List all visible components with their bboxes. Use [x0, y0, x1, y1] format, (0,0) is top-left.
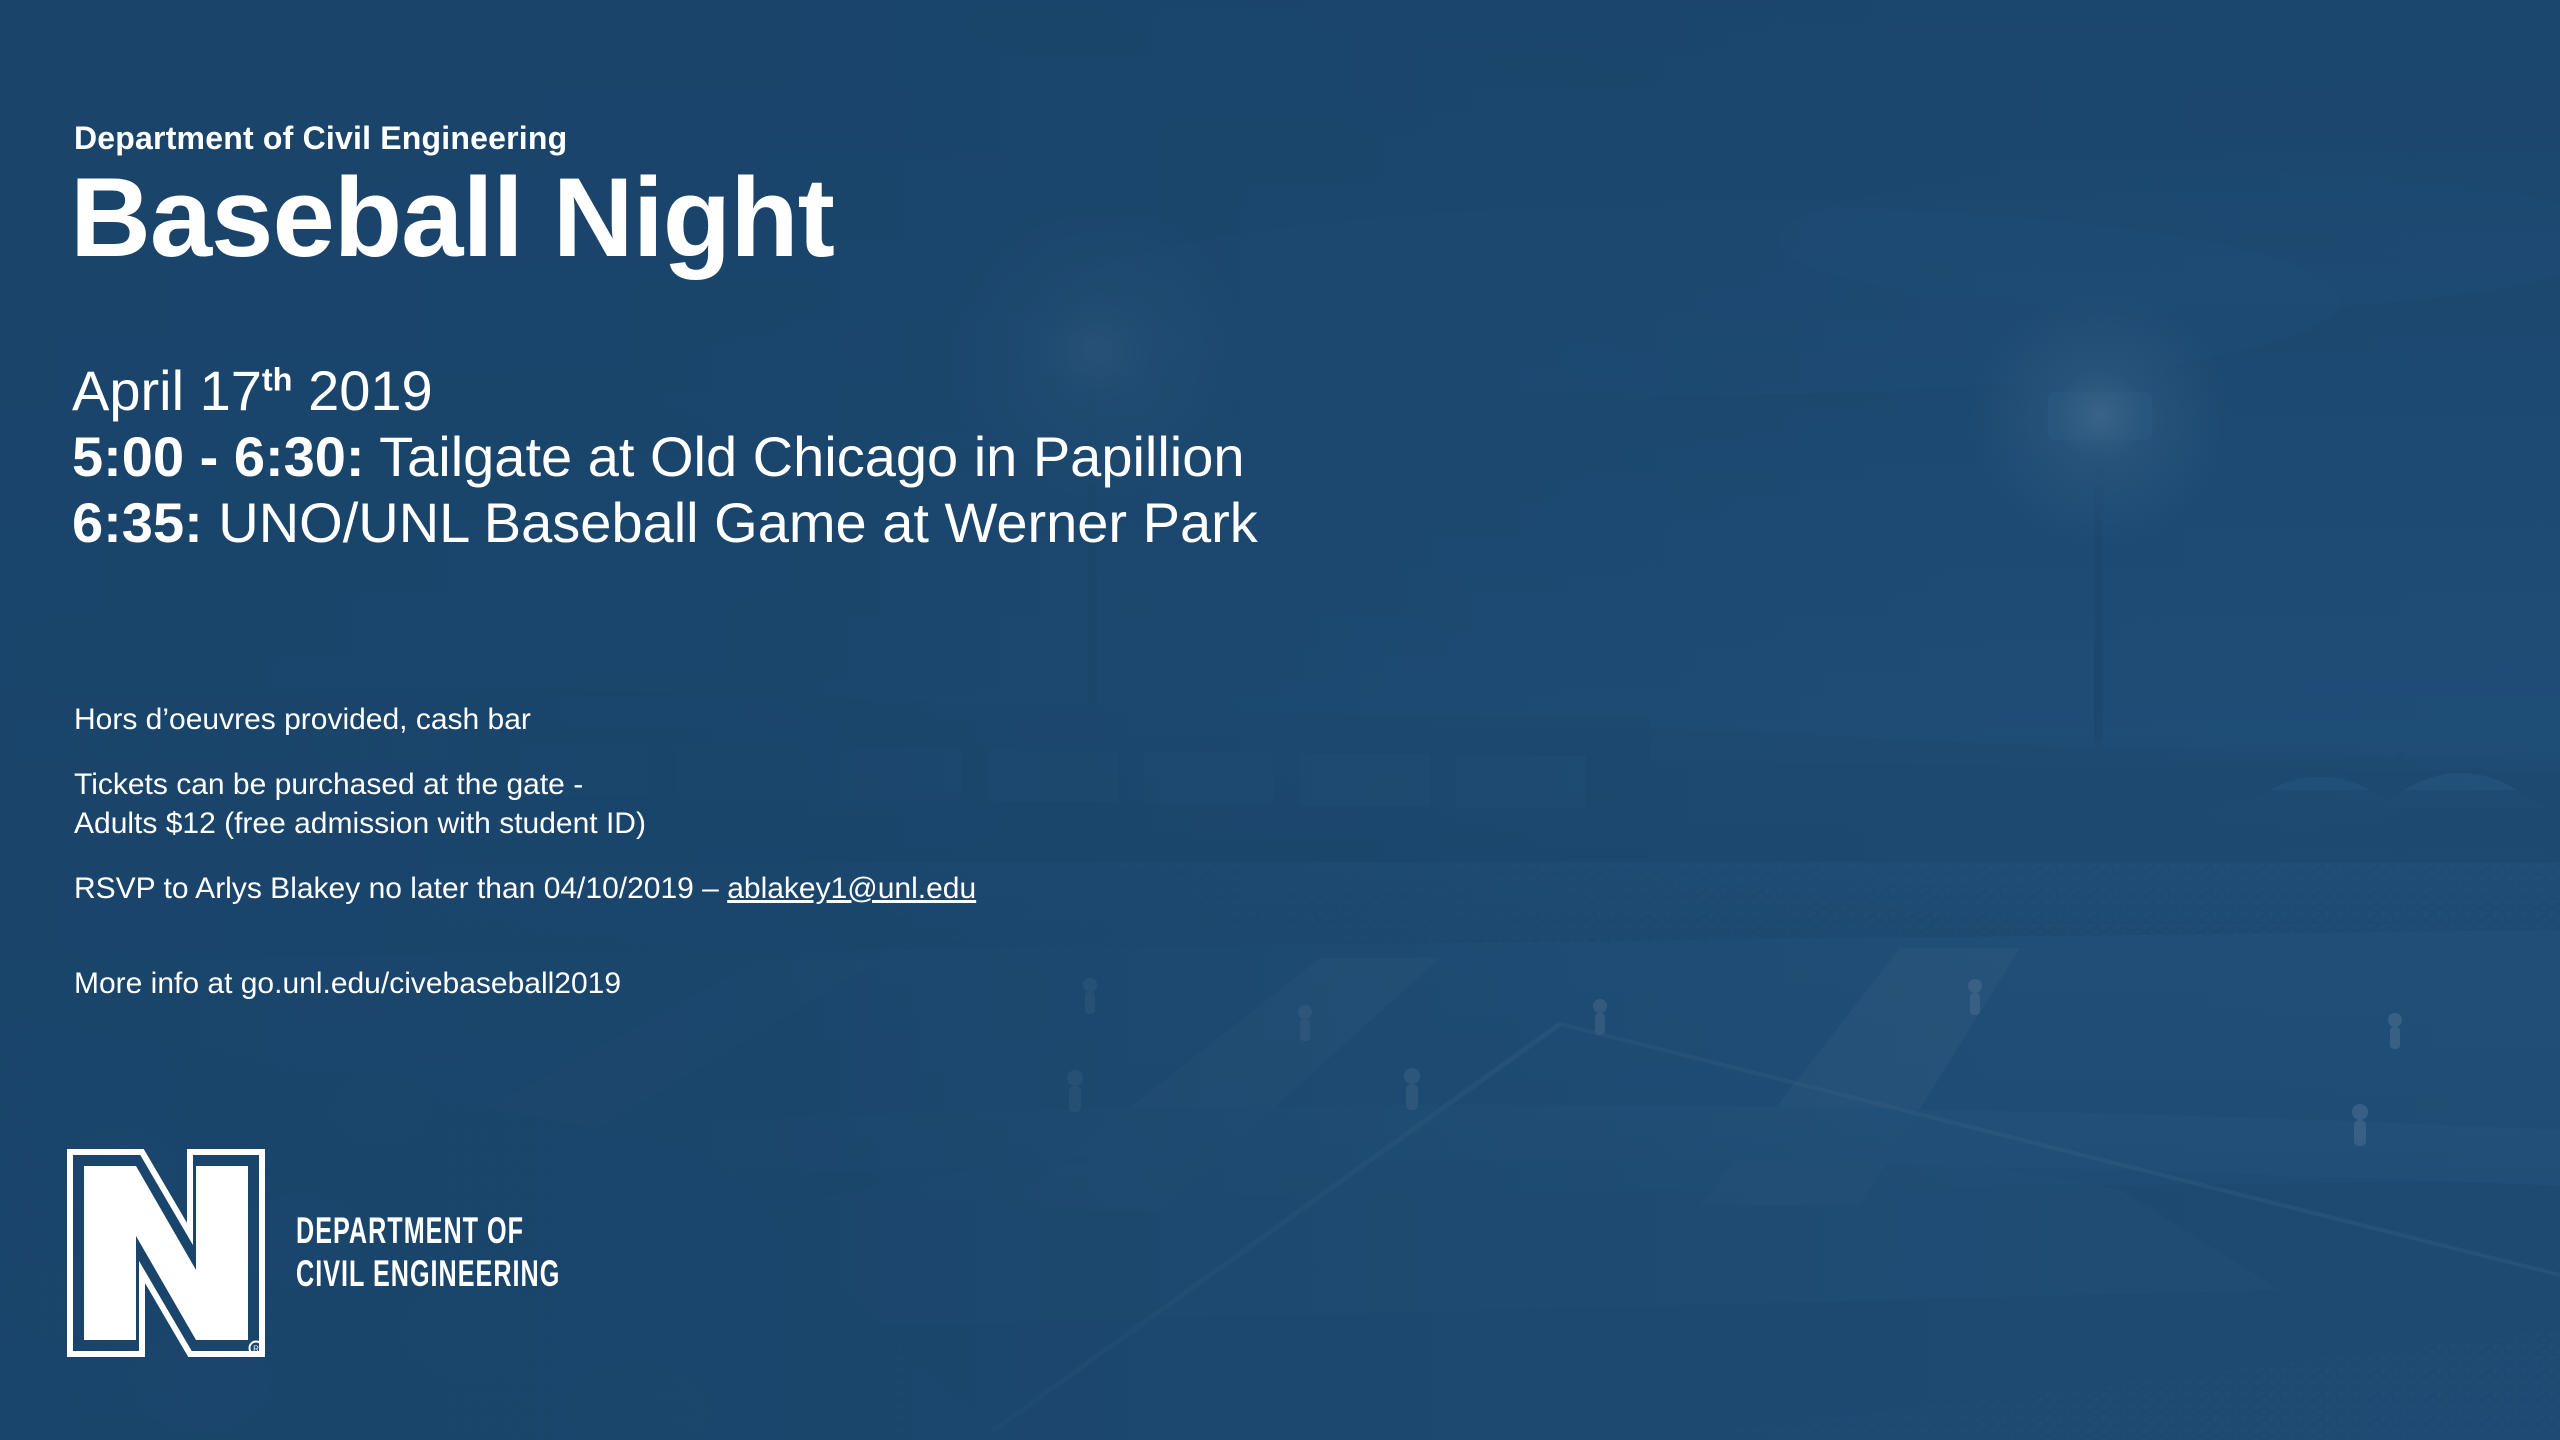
schedule-item-tailgate: 5:00 - 6:30: Tailgate at Old Chicago in … — [72, 424, 1258, 490]
schedule-block: April 17th 2019 5:00 - 6:30: Tailgate at… — [72, 358, 1258, 556]
rsvp-text: RSVP to Arlys Blakey no later than 04/10… — [74, 872, 727, 905]
details-block: Hors d’oeuvres provided, cash bar Ticket… — [74, 700, 976, 1003]
poster-content: Department of Civil Engineering Baseball… — [0, 0, 2560, 1440]
schedule-item-game: 6:35: UNO/UNL Baseball Game at Werner Pa… — [72, 490, 1258, 556]
schedule-time-game: 6:35: — [72, 491, 203, 554]
event-date-monthday: April 17 — [72, 359, 262, 422]
rsvp-email-link[interactable]: ablakey1@unl.edu — [727, 872, 976, 905]
logo-wordmark: DEPARTMENT OF CIVIL ENGINEERING — [296, 1210, 560, 1296]
logo-line-1: DEPARTMENT OF — [296, 1210, 560, 1253]
event-date-ordinal: th — [262, 361, 293, 397]
details-spacer — [74, 934, 976, 964]
logo-line-2: CIVIL ENGINEERING — [296, 1253, 560, 1296]
svg-text:R: R — [253, 1345, 259, 1354]
page-title: Baseball Night — [70, 162, 834, 274]
nebraska-n-icon: R — [66, 1148, 266, 1358]
detail-tickets: Tickets can be purchased at the gate - A… — [74, 765, 976, 843]
schedule-time-tailgate: 5:00 - 6:30: — [72, 425, 365, 488]
department-kicker: Department of Civil Engineering — [74, 120, 567, 157]
event-date-year: 2019 — [293, 359, 433, 422]
detail-more-info: More info at go.unl.edu/civebaseball2019 — [74, 964, 976, 1003]
schedule-detail-tailgate: Tailgate at Old Chicago in Papillion — [365, 425, 1245, 488]
event-date: April 17th 2019 — [72, 358, 1258, 424]
detail-rsvp: RSVP to Arlys Blakey no later than 04/10… — [74, 869, 976, 908]
schedule-detail-game: UNO/UNL Baseball Game at Werner Park — [203, 491, 1258, 554]
detail-food: Hors d’oeuvres provided, cash bar — [74, 700, 976, 739]
university-logo-lockup: R DEPARTMENT OF CIVIL ENGINEERING — [66, 1148, 685, 1358]
